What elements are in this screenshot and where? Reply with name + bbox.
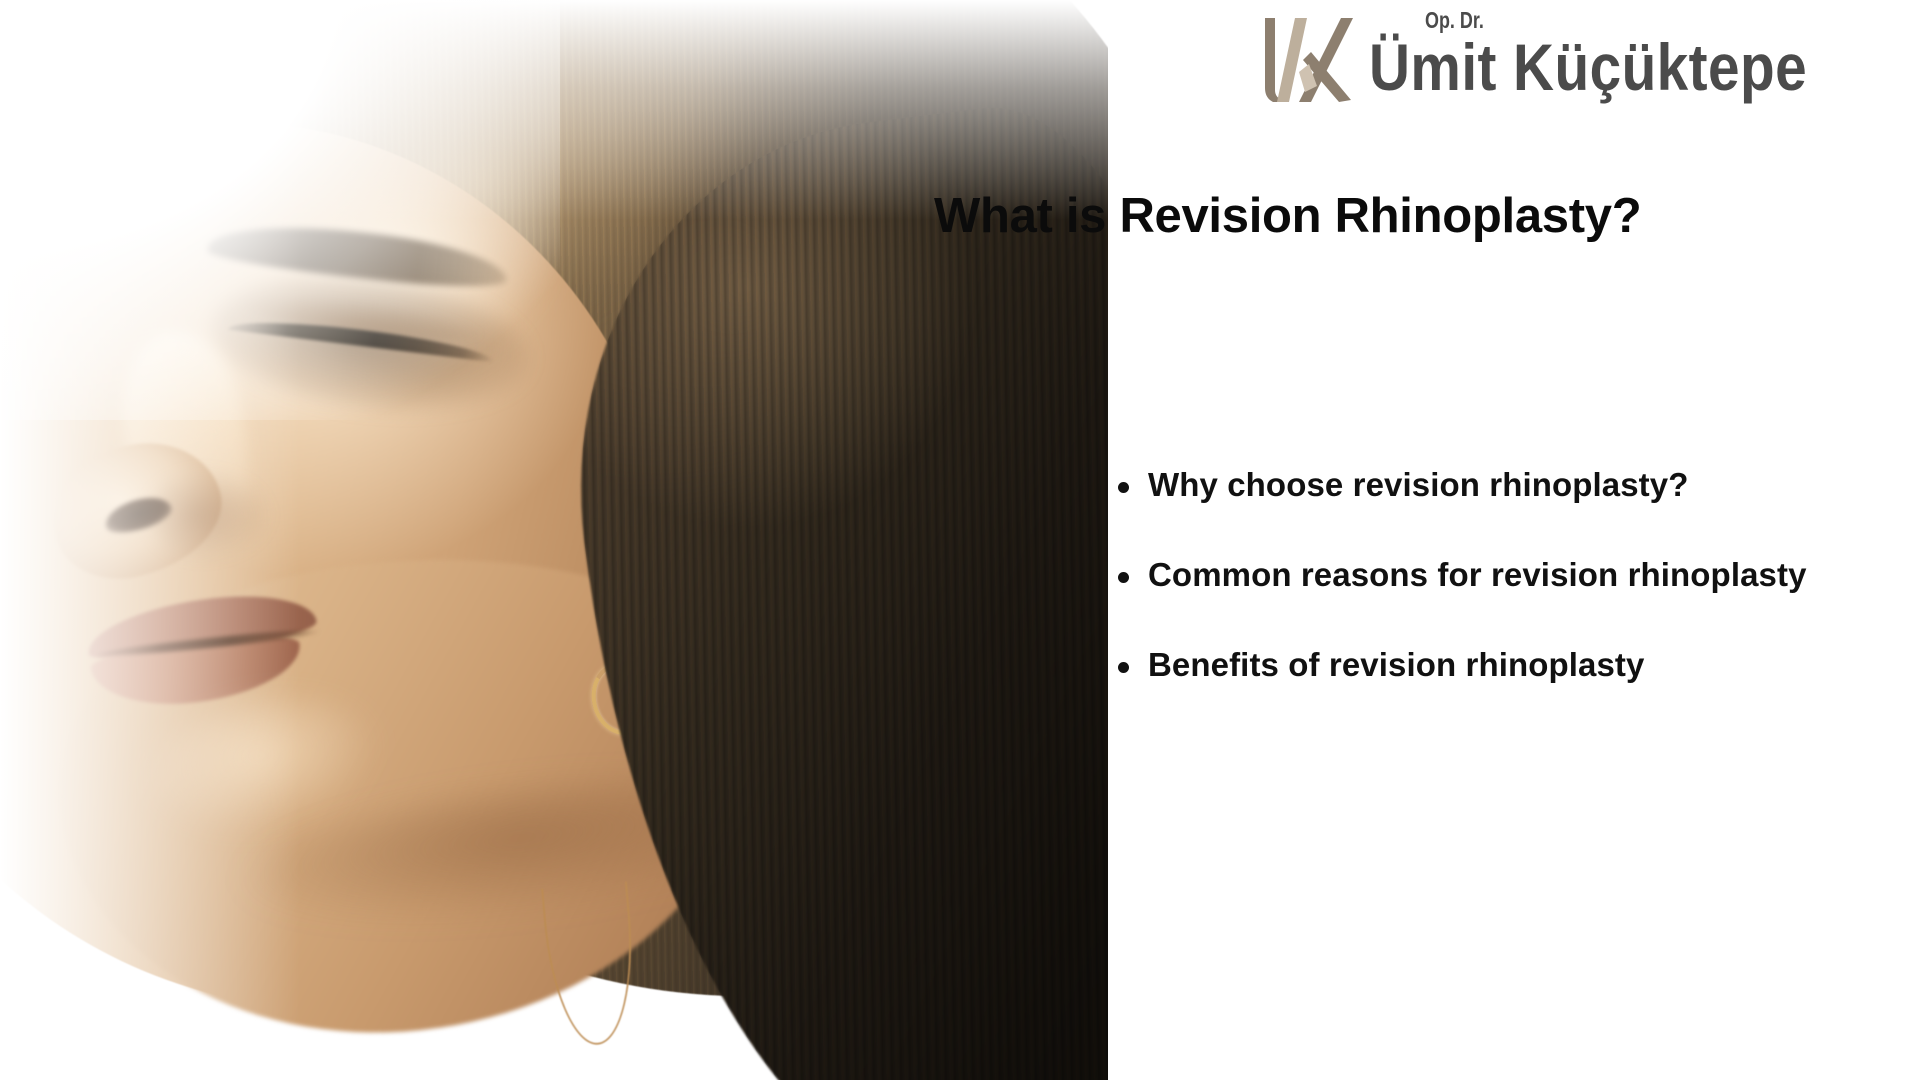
bullet-list: Why choose revision rhinoplasty? Common … xyxy=(1110,440,1900,710)
content-column: What is Revision Rhinoplasty? Why choose… xyxy=(900,0,1920,1080)
list-item: Why choose revision rhinoplasty? xyxy=(1110,440,1900,530)
list-item: Common reasons for revision rhinoplasty xyxy=(1110,530,1900,620)
slide-canvas: Op. Dr. Ümit Küçüktepe What is Revision … xyxy=(0,0,1920,1080)
list-item: Benefits of revision rhinoplasty xyxy=(1110,620,1900,710)
page-title: What is Revision Rhinoplasty? xyxy=(934,188,1894,244)
